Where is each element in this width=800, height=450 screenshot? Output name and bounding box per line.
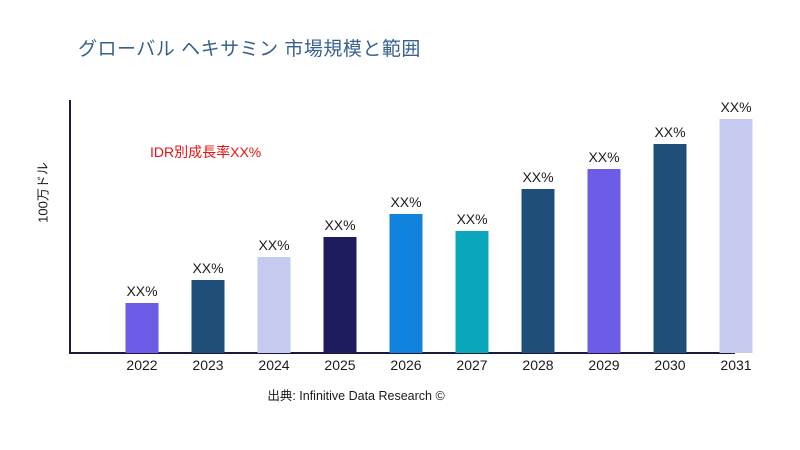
bar-2026[interactable] [390,214,423,353]
bar-group-2022: XX% [109,100,175,353]
x-tick-2028: 2028 [505,357,571,373]
bar-2024[interactable] [258,257,291,353]
x-tick-2031: 2031 [703,357,769,373]
x-tick-2023: 2023 [175,357,241,373]
x-tick-2029: 2029 [571,357,637,373]
bar-2023[interactable] [192,280,225,353]
bar-group-2025: XX% [307,100,373,353]
bar-group-2028: XX% [505,100,571,353]
bar-value-label-2031: XX% [720,99,751,115]
bar-group-2024: XX% [241,100,307,353]
bar-value-label-2022: XX% [126,283,157,299]
bar-2030[interactable] [654,144,687,353]
bar-chart-figure: グローバル ヘキサミン 市場規模と範囲 100万ドル IDR別成長率XX% XX… [0,0,800,450]
x-tick-2027: 2027 [439,357,505,373]
plot-area: XX%XX%XX%XX%XX%XX%XX%XX%XX%XX% [70,100,780,353]
bar-group-2030: XX% [637,100,703,353]
bar-value-label-2027: XX% [456,211,487,227]
bar-value-label-2026: XX% [390,194,421,210]
bar-2029[interactable] [588,169,621,353]
bar-value-label-2030: XX% [654,124,685,140]
bar-2028[interactable] [522,189,555,353]
x-axis-tick-labels: 2022202320242025202620272028202920302031 [70,357,780,379]
bar-value-label-2028: XX% [522,169,553,185]
x-tick-2026: 2026 [373,357,439,373]
bar-group-2027: XX% [439,100,505,353]
bar-value-label-2025: XX% [324,217,355,233]
bar-2027[interactable] [456,231,489,353]
bar-2031[interactable] [720,119,753,353]
x-tick-2030: 2030 [637,357,703,373]
y-axis-label: 100万ドル [33,133,52,253]
bar-value-label-2024: XX% [258,237,289,253]
source-caption: 出典: Infinitive Data Research © [0,385,712,404]
x-tick-2025: 2025 [307,357,373,373]
bar-group-2031: XX% [703,100,769,353]
bar-group-2026: XX% [373,100,439,353]
x-tick-2022: 2022 [109,357,175,373]
bar-value-label-2023: XX% [192,260,223,276]
chart-title: グローバル ヘキサミン 市場規模と範囲 [78,34,421,61]
x-tick-2024: 2024 [241,357,307,373]
bar-group-2023: XX% [175,100,241,353]
bar-group-2029: XX% [571,100,637,353]
bar-2025[interactable] [324,237,357,353]
bar-2022[interactable] [126,303,159,353]
bar-value-label-2029: XX% [588,149,619,165]
